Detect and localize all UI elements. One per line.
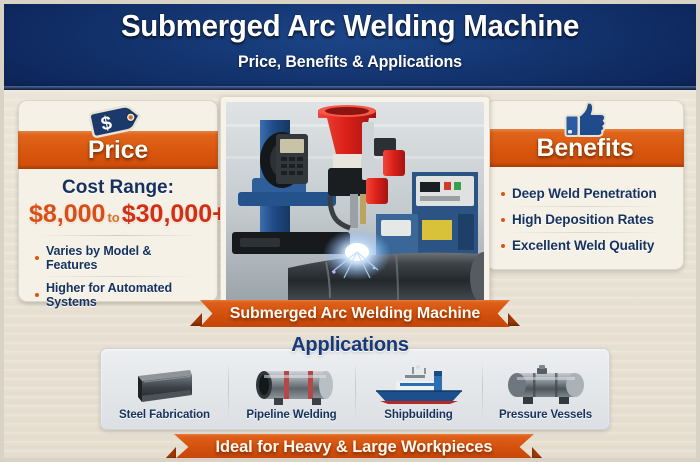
bullet-dot-icon	[501, 244, 505, 248]
list-item: Higher for Automated Systems	[29, 277, 207, 313]
application-item-pressure-vessels[interactable]: Pressure Vessels	[482, 359, 609, 425]
price-tag-dollar-icon: $	[89, 102, 147, 143]
bullet-dot-icon	[501, 192, 505, 196]
page-subtitle: Price, Benefits & Applications	[21, 52, 679, 72]
applications-panel: Steel Fabrication	[100, 348, 610, 430]
list-item: High Deposition Rates	[497, 207, 673, 232]
steel-i-beam-icon	[134, 365, 196, 407]
cost-range-label: Cost Range:	[29, 177, 207, 199]
applications-row: Steel Fabrication	[101, 359, 609, 425]
pressure-vessel-tank-icon	[503, 365, 589, 407]
bullet-dot-icon	[35, 293, 39, 297]
benefit-label: High Deposition Rates	[512, 212, 654, 227]
footer-ribbon-tail-right	[532, 447, 544, 460]
application-label: Steel Fabrication	[119, 409, 210, 421]
cost-connector: to	[105, 210, 121, 225]
machine-photo-frame	[220, 96, 490, 308]
infographic-root: Submerged Arc Welding Machine Price, Ben…	[0, 0, 700, 462]
application-item-pipeline-welding[interactable]: Pipeline Welding	[228, 359, 355, 425]
cargo-ship-icon	[372, 365, 466, 407]
application-item-shipbuilding[interactable]: Shipbuilding	[355, 359, 482, 425]
bullet-dot-icon	[35, 256, 39, 260]
applications-title: Applications	[4, 334, 696, 357]
list-item: Deep Weld Penetration	[497, 181, 673, 206]
benefits-card-body: Deep Weld Penetration High Deposition Ra…	[487, 171, 683, 264]
cost-range-value: $8,000to$30,000+	[29, 200, 207, 229]
application-item-steel-fabrication[interactable]: Steel Fabrication	[101, 359, 228, 425]
price-divider	[35, 235, 201, 236]
thumbs-up-icon	[563, 101, 607, 142]
list-item: Varies by Model & Features	[29, 240, 207, 276]
application-label: Shipbuilding	[384, 409, 452, 421]
footer-banner: Ideal for Heavy & Large Workpieces	[174, 434, 534, 460]
benefit-label: Deep Weld Penetration	[512, 186, 657, 201]
cost-low-value: $8,000	[29, 200, 105, 228]
pipe-section-icon	[250, 365, 334, 407]
price-card-body: Cost Range: $8,000to$30,000+ Varies by M…	[19, 169, 217, 319]
cost-high-value: $30,000+	[122, 200, 227, 228]
footer-ribbon-tail-left	[164, 447, 176, 460]
price-bullet-list: Varies by Model & Features Higher for Au…	[29, 240, 207, 313]
price-bullet-label: Varies by Model & Features	[46, 244, 205, 272]
submerged-arc-welding-machine-photo	[226, 102, 484, 302]
benefits-bullet-list: Deep Weld Penetration High Deposition Ra…	[497, 181, 673, 258]
price-bullet-label: Higher for Automated Systems	[46, 281, 205, 309]
caption-ribbon-tail-right	[508, 313, 520, 326]
benefit-label: Excellent Weld Quality	[512, 238, 654, 253]
header-banner: Submerged Arc Welding Machine Price, Ben…	[0, 0, 700, 90]
application-label: Pipeline Welding	[246, 409, 336, 421]
bullet-dot-icon	[501, 218, 505, 222]
list-item: Excellent Weld Quality	[497, 233, 673, 258]
application-label: Pressure Vessels	[499, 409, 592, 421]
page-title: Submerged Arc Welding Machine	[18, 8, 683, 44]
photo-caption-ribbon: Submerged Arc Welding Machine	[200, 300, 510, 327]
price-card: $ Price Cost Range: $8,000to$30,000+ Var…	[18, 100, 218, 302]
benefits-card: Benefits Deep Weld Penetration High Depo…	[486, 100, 684, 270]
